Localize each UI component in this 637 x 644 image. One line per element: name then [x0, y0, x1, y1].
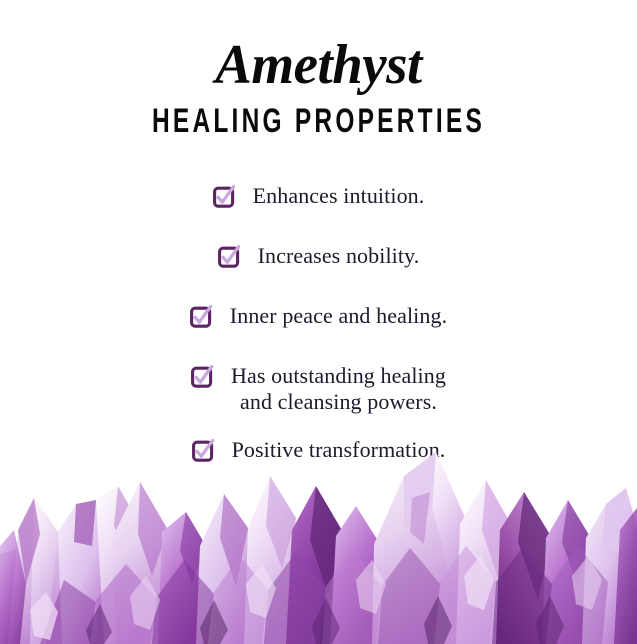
- list-item: Has outstanding healing and cleansing po…: [0, 363, 637, 415]
- page-subtitle: HEALING PROPERTIES: [89, 102, 548, 140]
- list-item-label: Enhances intuition.: [253, 183, 425, 209]
- checkbox-checked-icon: [213, 185, 236, 208]
- list-item: Increases nobility.: [0, 243, 637, 269]
- list-item-label: Inner peace and healing.: [230, 303, 447, 329]
- list-item-label: Has outstanding healing and cleansing po…: [231, 363, 446, 415]
- healing-properties-list: Enhances intuition. Increases nobility. …: [0, 183, 637, 463]
- amethyst-poster: Amethyst HEALING PROPERTIES Enhances int…: [0, 0, 637, 644]
- page-title: Amethyst: [6, 34, 630, 96]
- list-item: Enhances intuition.: [0, 183, 637, 209]
- amethyst-crystal-cluster-image: [0, 434, 637, 644]
- checkbox-checked-icon: [191, 365, 214, 388]
- list-item: Inner peace and healing.: [0, 303, 637, 329]
- title-block: Amethyst HEALING PROPERTIES: [0, 34, 637, 140]
- list-item-label: Increases nobility.: [258, 243, 420, 269]
- checkbox-checked-icon: [190, 305, 213, 328]
- checkbox-checked-icon: [218, 245, 241, 268]
